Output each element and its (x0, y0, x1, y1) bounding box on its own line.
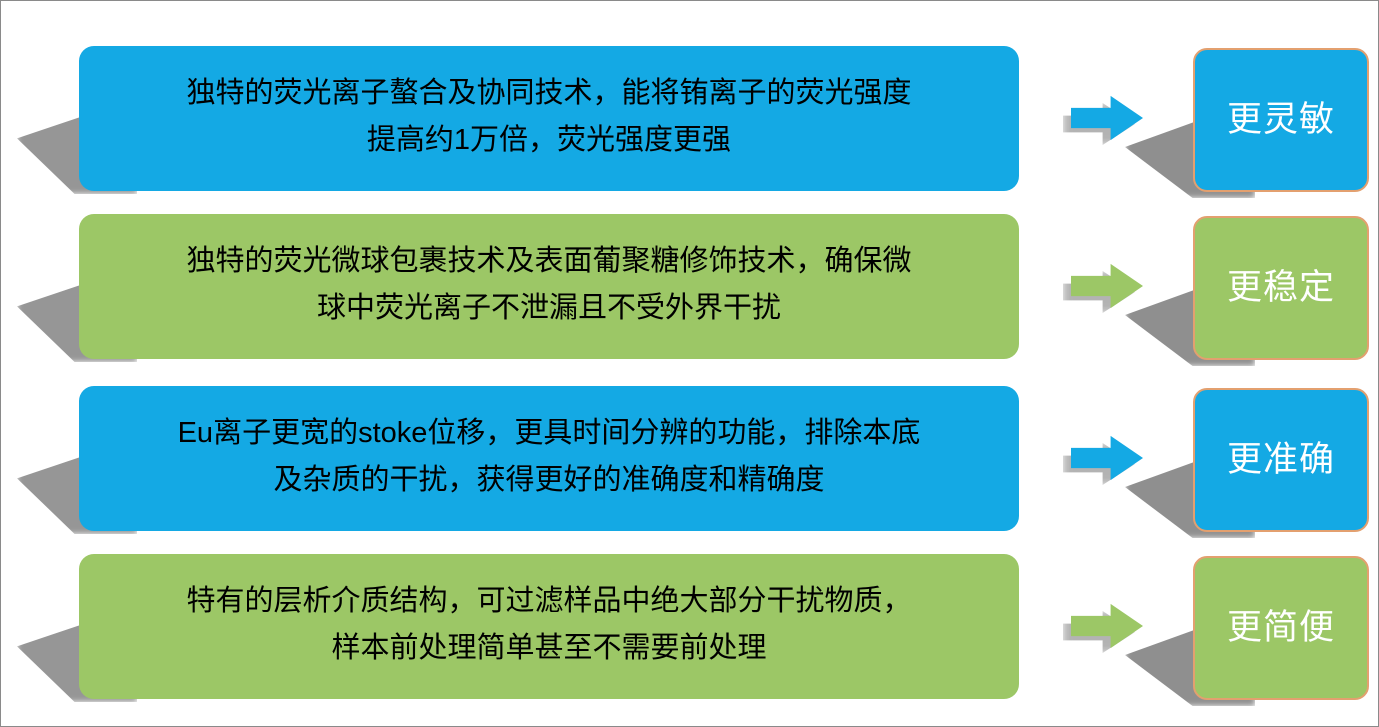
benefit-label-group: 更简便 (1193, 556, 1369, 700)
arrow-group (1071, 257, 1143, 315)
statement-group: Eu离子更宽的stoke位移，更具时间分辨的功能，排除本底 及杂质的干扰，获得更… (79, 386, 1019, 531)
benefit-label-box[interactable]: 更简便 (1193, 556, 1369, 700)
benefit-label-group: 更稳定 (1193, 216, 1369, 360)
arrow-group (1071, 429, 1143, 487)
arrow-group (1071, 597, 1143, 655)
statement-text: Eu离子更宽的stoke位移，更具时间分辨的功能，排除本底 及杂质的干扰，获得更… (97, 410, 1001, 504)
benefit-label-box[interactable]: 更准确 (1193, 388, 1369, 532)
statement-box[interactable]: 独特的荧光离子螯合及协同技术，能将铕离子的荧光强度 提高约1万倍，荧光强度更强 (79, 46, 1019, 191)
statement-box[interactable]: 独特的荧光微球包裹技术及表面葡聚糖修饰技术，确保微 球中荧光离子不泄漏且不受外界… (79, 214, 1019, 359)
benefit-label-text: 更稳定 (1227, 269, 1335, 308)
statement-group: 独特的荧光微球包裹技术及表面葡聚糖修饰技术，确保微 球中荧光离子不泄漏且不受外界… (79, 214, 1019, 359)
benefit-label-box[interactable]: 更稳定 (1193, 216, 1369, 360)
statement-box[interactable]: 特有的层析介质结构，可过滤样品中绝大部分干扰物质， 样本前处理简单甚至不需要前处… (79, 554, 1019, 699)
benefit-label-box[interactable]: 更灵敏 (1193, 48, 1369, 192)
benefit-label-text: 更灵敏 (1227, 101, 1335, 140)
statement-group: 特有的层析介质结构，可过滤样品中绝大部分干扰物质， 样本前处理简单甚至不需要前处… (79, 554, 1019, 699)
statement-text: 特有的层析介质结构，可过滤样品中绝大部分干扰物质， 样本前处理简单甚至不需要前处… (97, 578, 1001, 672)
benefit-label-text: 更简便 (1227, 609, 1335, 648)
slide-canvas: 独特的荧光离子螯合及协同技术，能将铕离子的荧光强度 提高约1万倍，荧光强度更强 … (0, 0, 1379, 727)
statement-group: 独特的荧光离子螯合及协同技术，能将铕离子的荧光强度 提高约1万倍，荧光强度更强 (79, 46, 1019, 191)
benefit-label-group: 更准确 (1193, 388, 1369, 532)
benefit-label-text: 更准确 (1227, 441, 1335, 480)
arrow-group (1071, 89, 1143, 147)
statement-text: 独特的荧光离子螯合及协同技术，能将铕离子的荧光强度 提高约1万倍，荧光强度更强 (97, 70, 1001, 164)
benefit-label-group: 更灵敏 (1193, 48, 1369, 192)
statement-box[interactable]: Eu离子更宽的stoke位移，更具时间分辨的功能，排除本底 及杂质的干扰，获得更… (79, 386, 1019, 531)
statement-text: 独特的荧光微球包裹技术及表面葡聚糖修饰技术，确保微 球中荧光离子不泄漏且不受外界… (97, 238, 1001, 332)
